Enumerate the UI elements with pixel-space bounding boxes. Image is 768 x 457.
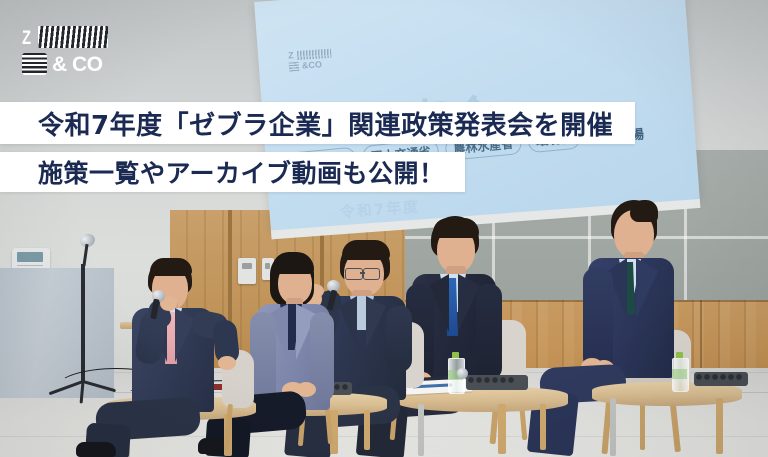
brand-letter-z: Z: [22, 29, 30, 48]
microphone-head: [457, 368, 468, 379]
zebra-stripe-icon: [38, 26, 108, 48]
headline-line1-text: 令和7年度「ゼブラ企業」関連政策発表会を開催: [38, 105, 613, 142]
zebra-square-icon: [22, 53, 47, 75]
slide-logo: Z &CO: [288, 49, 332, 74]
light-switch-plate: [238, 258, 256, 284]
mic-foam-block: [466, 375, 528, 390]
mic-stand-pole: [81, 264, 85, 382]
slide-ghost-small: 令和7年度: [339, 195, 421, 222]
headline-banner-line1: 令和7年度「ゼブラ企業」関連政策発表会を開催: [0, 102, 635, 144]
brand-and-co: & CO: [52, 54, 103, 75]
headline-banner-line2: 施策一覧やアーカイブ動画も公開！: [0, 152, 465, 192]
brand-logo: Z & CO: [22, 26, 108, 75]
glasses-lens: [363, 268, 380, 280]
mic-foam-block: [694, 372, 748, 386]
glasses-lens: [345, 268, 363, 280]
event-banner-image: Z &CO 表会 企業」関連 令和7年度 経済産業省 国土交通省 農林水産省 環…: [0, 0, 768, 457]
headline-line2-text: 施策一覧やアーカイブ動画も公開！: [38, 154, 445, 190]
glasses-bridge: [360, 272, 365, 274]
water-bottle: [672, 352, 687, 390]
